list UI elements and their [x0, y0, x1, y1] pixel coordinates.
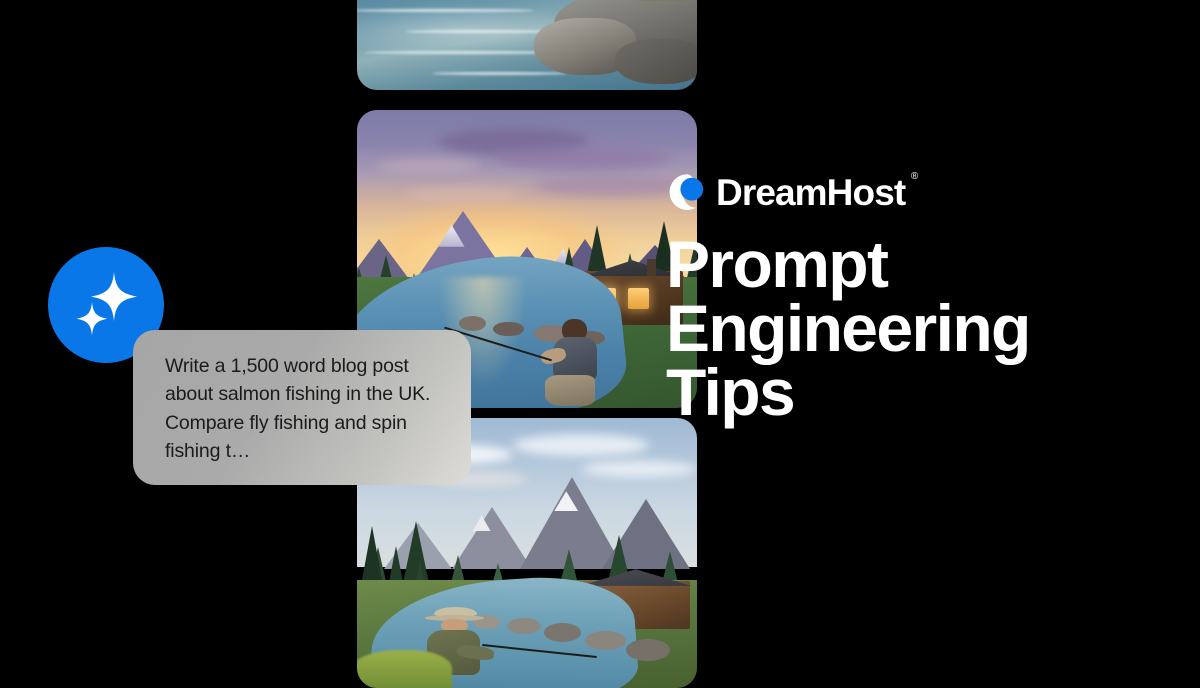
- cloud: [493, 146, 670, 170]
- registered-trademark-icon: ®: [911, 172, 917, 182]
- river-stone: [493, 322, 524, 337]
- headline-line-2: Engineering: [666, 296, 1136, 360]
- grass-tuft: [357, 650, 452, 688]
- ai-sparkle-icon: [67, 266, 145, 344]
- angler-figure: [534, 319, 629, 408]
- river-stone: [626, 639, 670, 661]
- water-ripple: [357, 9, 534, 12]
- dreamhost-wordmark: DreamHost ®: [716, 174, 905, 211]
- brand-name: DreamHost: [716, 172, 905, 213]
- cloud: [377, 158, 479, 173]
- water-ripple: [432, 72, 568, 75]
- river-stone: [585, 631, 626, 650]
- image-card-top[interactable]: [357, 0, 697, 90]
- prompt-bubble[interactable]: Write a 1,500 word blog post about salmo…: [133, 330, 471, 485]
- social-card-canvas: DreamHost ® Prompt Engineering Tips Writ…: [0, 0, 1200, 628]
- cloud: [513, 434, 649, 456]
- river-stone: [459, 316, 486, 331]
- dreamhost-crescent-moon-icon: [666, 172, 706, 212]
- boulder: [615, 39, 697, 84]
- headline-line-3: Tips: [666, 360, 1136, 424]
- prompt-text: Write a 1,500 word blog post about salmo…: [165, 355, 430, 462]
- headline-line-1: Prompt: [666, 232, 1136, 296]
- river-stone: [507, 618, 541, 634]
- dreamhost-logo[interactable]: DreamHost ®: [666, 172, 905, 212]
- page-title: Prompt Engineering Tips: [666, 232, 1136, 424]
- water-ripple: [405, 30, 555, 33]
- scene-river-crouching-angler: [357, 0, 697, 90]
